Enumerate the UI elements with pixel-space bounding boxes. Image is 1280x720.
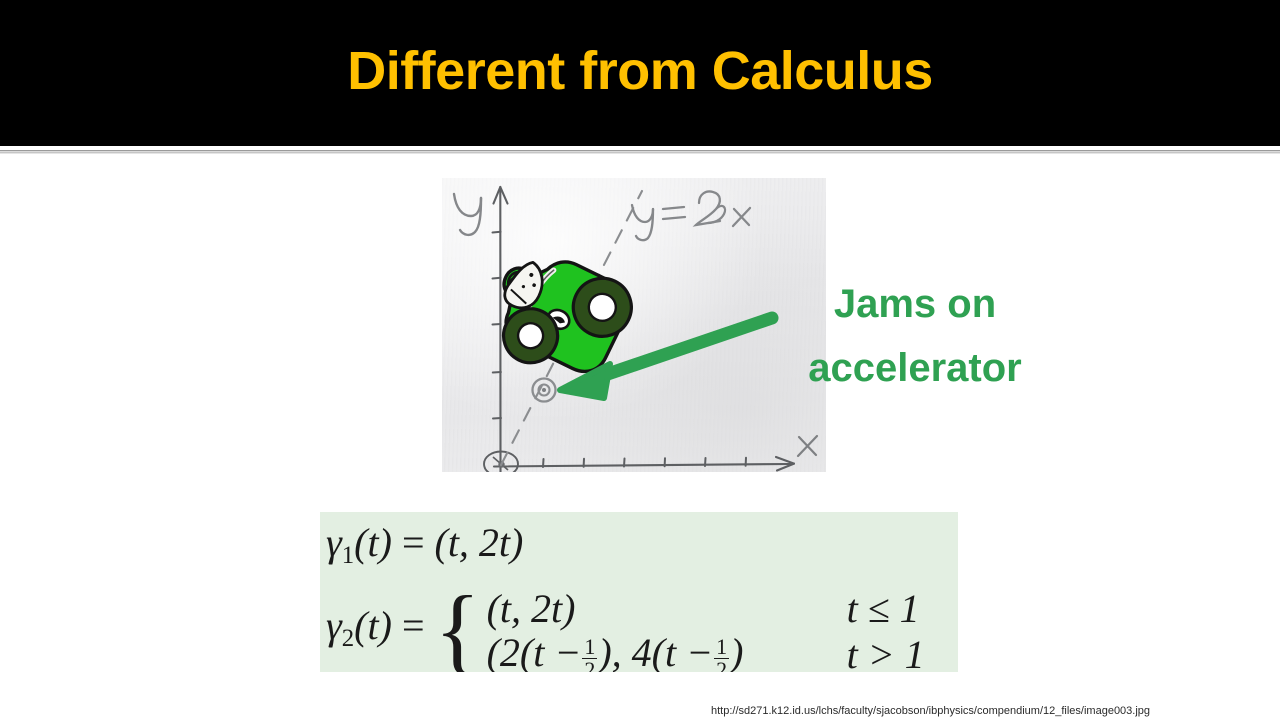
case2-fraction-2: 12 [714,636,729,672]
callout-line-2: accelerator [772,336,1058,400]
line-equation-label [632,191,750,240]
case2-frac2-denominator: 2 [714,658,729,672]
case2-expression: (2(t −12), 4(t −12) [487,630,847,672]
source-url-caption: http://sd271.k12.id.us/lchs/faculty/sjac… [711,705,1150,717]
case1-expression: (t, 2t) [487,586,847,632]
case2-condition: t > 1 [847,632,925,672]
callout-label: Jams on accelerator [772,272,1058,400]
callout-arrow-icon [548,306,788,406]
case1-condition: t ≤ 1 [847,586,920,632]
gamma1-rhs: (t, 2t) [435,520,524,565]
gamma1-subscript: 1 [342,542,354,569]
header-divider [0,150,1280,154]
callout-line-1: Jams on [772,272,1058,336]
page-title: Different from Calculus [0,44,1280,98]
case2-frac2-numerator: 1 [714,636,729,658]
case2-frac1-numerator: 1 [582,636,597,658]
formula-panel: γ1(t) = (t, 2t) γ2(t) = { (t, 2t) t ≤ 1 … [320,512,958,672]
case2-frac1-denominator: 2 [582,658,597,672]
case-row-1: (t, 2t) t ≤ 1 [487,586,925,632]
gamma2-argument: (t) [354,603,392,648]
formula-gamma2: γ2(t) = { (t, 2t) t ≤ 1 (2(t −12), 4(t −… [326,586,925,672]
x-axis [494,457,794,471]
gamma2-subscript: 2 [342,624,354,651]
case2-expr-part-c: ) [730,630,743,672]
x-axis-label [798,436,817,456]
gamma1-argument: (t) [354,520,392,565]
cases-brace: { [435,587,481,672]
gamma2-equals: = [402,603,425,648]
gamma1-symbol: γ [326,520,342,565]
case-row-2: (2(t −12), 4(t −12) t > 1 [487,632,925,672]
y-axis-label [454,194,481,235]
gamma1-equals: = [402,520,425,565]
case2-fraction-1: 12 [582,636,597,672]
gamma2-lhs: γ2(t) = [326,603,425,662]
cases-block: (t, 2t) t ≤ 1 (2(t −12), 4(t −12) t > 1 [487,586,925,672]
formula-gamma1: γ1(t) = (t, 2t) [326,518,523,581]
gamma2-symbol: γ [326,603,342,648]
case2-expr-part-a: (2(t − [487,630,582,672]
case2-expr-part-b: ), 4(t − [598,630,713,672]
